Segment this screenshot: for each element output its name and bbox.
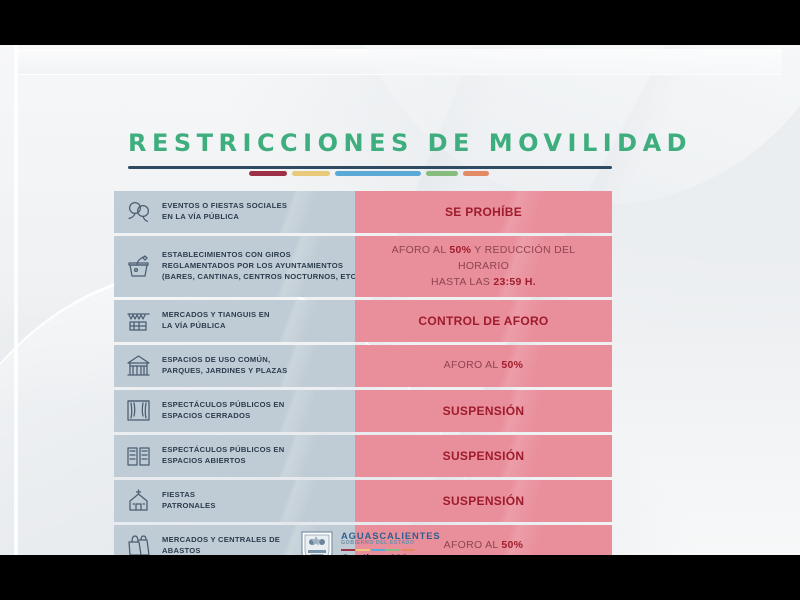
shopping-bags-icon: [123, 532, 153, 555]
restriction-cell: AFORO AL 50%: [355, 345, 612, 387]
activity-line: ESPECTÁCULOS PÚBLICOS EN: [162, 400, 284, 411]
restriction-label: SUSPENSIÓN: [443, 447, 525, 465]
activity-label: MERCADOS Y TIANGUIS ENLA VÍA PÚBLICA: [162, 310, 270, 332]
activity-line: ESPECTÁCULOS PÚBLICOS EN: [162, 445, 284, 456]
logo-subtitle: GOBIERNO DEL ESTADO: [341, 541, 441, 546]
restriction-line: HASTA LAS 23:59 H.: [365, 275, 602, 291]
page-title: RESTRICCIONES DE MOVILIDAD: [128, 129, 628, 157]
letterbox-bottom: [0, 555, 800, 600]
logo-slogan-contigo: Contigo: [341, 553, 383, 555]
table-row: FIESTASPATRONALESSUSPENSIÓN: [114, 480, 612, 522]
restriction-label: AFORO AL 50% Y REDUCCIÓN DEL HORARIOHAST…: [365, 243, 602, 290]
video-frame: RESTRICCIONES DE MOVILIDAD EVENTOS O FIE…: [0, 0, 800, 600]
activity-line: MERCADOS Y CENTRALES DE: [162, 535, 280, 546]
chip-green: [426, 171, 458, 176]
restriction-cell: AFORO AL 50% Y REDUCCIÓN DEL HORARIOHAST…: [355, 236, 612, 297]
activity-line: (BARES, CANTINAS, CENTROS NOCTURNOS, ETC…: [162, 272, 359, 283]
color-chip-row: [249, 171, 489, 176]
logo-bar-1: [356, 549, 370, 552]
champagne-bucket-icon: [123, 253, 153, 281]
restriction-line: SUSPENSIÓN: [443, 492, 525, 510]
activity-line: REGLAMENTADOS POR LOS AYUNTAMIENTOS: [162, 261, 359, 272]
restriction-cell: SUSPENSIÓN: [355, 390, 612, 432]
activity-line: ESPACIOS DE USO COMÚN,: [162, 355, 288, 366]
restriction-label: AFORO AL 50%: [444, 358, 524, 374]
activity-line: EVENTOS O FIESTAS SOCIALES: [162, 201, 287, 212]
activity-cell: EVENTOS O FIESTAS SOCIALESEN LA VÍA PÚBL…: [114, 191, 355, 233]
logo-state-name: AGUASCALIENTES: [341, 531, 441, 540]
slide-top-stripe: [18, 49, 782, 75]
logo-bar-4: [401, 549, 415, 552]
restriction-label: SUSPENSIÓN: [443, 492, 525, 510]
logo-bar-0: [341, 549, 355, 552]
activity-label: ESPECTÁCULOS PÚBLICOS ENESPACIOS CERRADO…: [162, 400, 284, 422]
table-row: ESTABLECIMIENTOS CON GIROSREGLAMENTADOS …: [114, 236, 612, 297]
activity-line: ABASTOS: [162, 546, 280, 555]
activity-line: PARQUES, JARDINES Y PLAZAS: [162, 366, 288, 377]
table-row: ESPECTÁCULOS PÚBLICOS ENESPACIOS CERRADO…: [114, 390, 612, 432]
activity-label: ESTABLECIMIENTOS CON GIROSREGLAMENTADOS …: [162, 250, 359, 282]
theater-stage-icon: [123, 397, 153, 425]
table-row: MERCADOS Y TIANGUIS ENLA VÍA PÚBLICACONT…: [114, 300, 612, 342]
open-air-stands-icon: [123, 442, 153, 470]
restriction-label: SUSPENSIÓN: [443, 402, 525, 420]
logo-color-bars: [341, 549, 441, 552]
restriction-label: SE PROHÍBE: [445, 203, 522, 221]
activity-line: LA VÍA PÚBLICA: [162, 321, 270, 332]
activity-line: ESPACIOS ABIERTOS: [162, 456, 284, 467]
government-logo: AGUASCALIENTES GOBIERNO DEL ESTADO Conti…: [300, 528, 500, 555]
logo-slogan: Contigoal100: [341, 554, 441, 555]
activity-cell: FIESTASPATRONALES: [114, 480, 355, 522]
restriction-cell: SUSPENSIÓN: [355, 480, 612, 522]
activity-cell: ESTABLECIMIENTOS CON GIROSREGLAMENTADOS …: [114, 236, 355, 297]
chip-blue: [335, 171, 421, 176]
activity-line: ESPACIOS CERRADOS: [162, 411, 284, 422]
restriction-line: SE PROHÍBE: [445, 203, 522, 221]
park-gazebo-icon: [123, 352, 153, 380]
activity-line: EN LA VÍA PÚBLICA: [162, 212, 287, 223]
activity-label: MERCADOS Y CENTRALES DEABASTOS: [162, 535, 280, 555]
letterbox-top: [0, 0, 800, 45]
restriction-line: CONTROL DE AFORO: [418, 312, 548, 330]
restriction-label: CONTROL DE AFORO: [418, 312, 548, 330]
presentation-slide: RESTRICCIONES DE MOVILIDAD EVENTOS O FIE…: [0, 45, 800, 555]
table-row: ESPECTÁCULOS PÚBLICOS ENESPACIOS ABIERTO…: [114, 435, 612, 477]
church-icon: [123, 487, 153, 515]
restriction-cell: CONTROL DE AFORO: [355, 300, 612, 342]
coat-of-arms-icon: [300, 530, 334, 556]
title-underline: [128, 166, 612, 169]
restriction-line: AFORO AL 50%: [444, 358, 524, 374]
chip-maroon: [249, 171, 287, 176]
restriction-cell: SUSPENSIÓN: [355, 435, 612, 477]
restriction-line: SUSPENSIÓN: [443, 447, 525, 465]
activity-line: ESTABLECIMIENTOS CON GIROS: [162, 250, 359, 261]
table-row: EVENTOS O FIESTAS SOCIALESEN LA VÍA PÚBL…: [114, 191, 612, 233]
market-stall-icon: [123, 307, 153, 335]
slide-left-edge: [14, 45, 18, 555]
activity-line: PATRONALES: [162, 501, 216, 512]
balloons-icon: [123, 198, 153, 226]
logo-slogan-100: 100: [389, 553, 407, 555]
activity-label: ESPECTÁCULOS PÚBLICOS ENESPACIOS ABIERTO…: [162, 445, 284, 467]
activity-cell: ESPACIOS DE USO COMÚN,PARQUES, JARDINES …: [114, 345, 355, 387]
activity-line: FIESTAS: [162, 490, 216, 501]
restrictions-table: EVENTOS O FIESTAS SOCIALESEN LA VÍA PÚBL…: [114, 191, 612, 555]
activity-label: FIESTASPATRONALES: [162, 490, 216, 512]
restriction-line: SUSPENSIÓN: [443, 402, 525, 420]
restriction-line: AFORO AL 50% Y REDUCCIÓN DEL HORARIO: [365, 243, 602, 275]
activity-cell: ESPECTÁCULOS PÚBLICOS ENESPACIOS ABIERTO…: [114, 435, 355, 477]
table-row: ESPACIOS DE USO COMÚN,PARQUES, JARDINES …: [114, 345, 612, 387]
activity-line: MERCADOS Y TIANGUIS EN: [162, 310, 270, 321]
restriction-cell: SE PROHÍBE: [355, 191, 612, 233]
chip-gold: [292, 171, 330, 176]
activity-label: ESPACIOS DE USO COMÚN,PARQUES, JARDINES …: [162, 355, 288, 377]
logo-bar-3: [386, 549, 400, 552]
chip-orange: [463, 171, 489, 176]
activity-cell: MERCADOS Y TIANGUIS ENLA VÍA PÚBLICA: [114, 300, 355, 342]
activity-cell: ESPECTÁCULOS PÚBLICOS ENESPACIOS CERRADO…: [114, 390, 355, 432]
activity-label: EVENTOS O FIESTAS SOCIALESEN LA VÍA PÚBL…: [162, 201, 287, 223]
logo-bar-2: [371, 549, 385, 552]
